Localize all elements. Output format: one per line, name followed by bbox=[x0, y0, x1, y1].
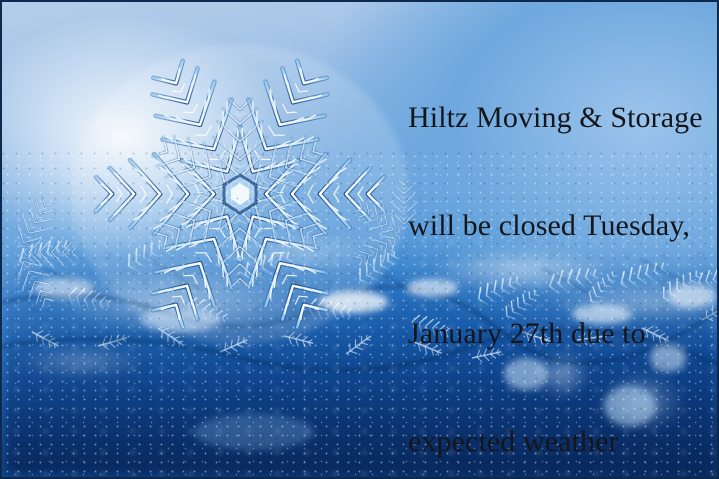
closure-announcement-text: Hiltz Moving & Storage will be closed Tu… bbox=[408, 28, 713, 479]
message-line-2: will be closed Tuesday, bbox=[408, 208, 713, 244]
message-line-1: Hiltz Moving & Storage bbox=[408, 100, 713, 136]
message-line-4: expected weather bbox=[408, 424, 713, 460]
winter-closure-poster: Hiltz Moving & Storage will be closed Tu… bbox=[0, 0, 719, 479]
message-line-3: January 27th due to bbox=[408, 316, 713, 352]
